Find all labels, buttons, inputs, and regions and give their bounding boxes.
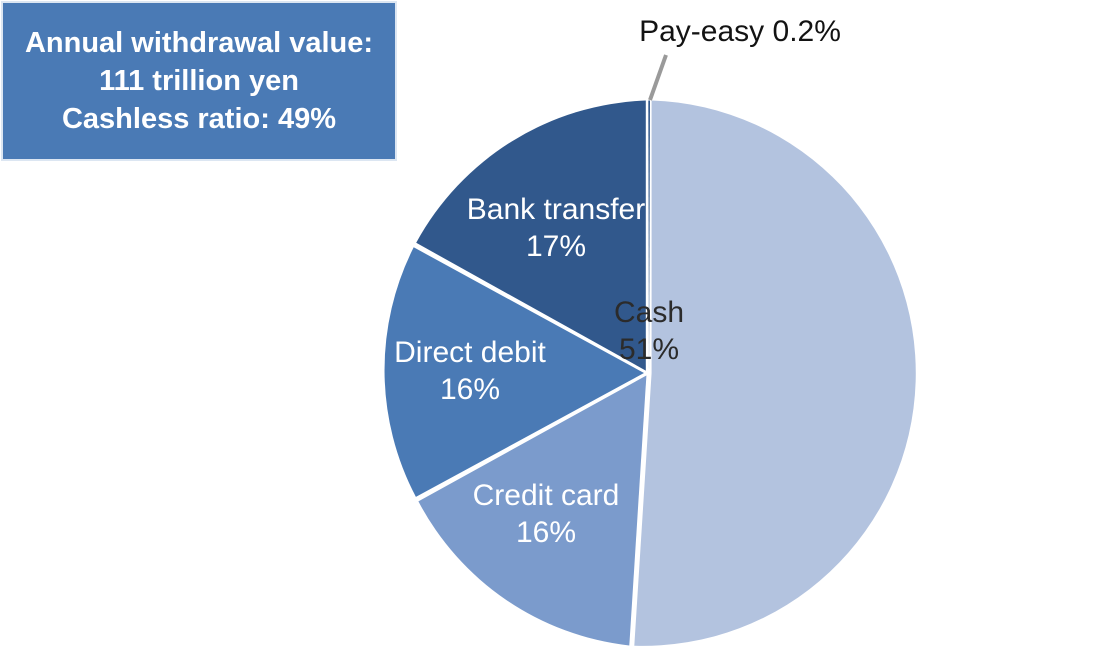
pie-chart-svg — [0, 0, 1120, 668]
chart-canvas: Annual withdrawal value: 111 trillion ye… — [0, 0, 1120, 668]
pay-easy-leader-line — [650, 55, 666, 100]
pie-chart: Cash 51% Credit card 16% Direct debit 16… — [0, 0, 1120, 668]
pie-slice-pay-easy[interactable] — [648, 101, 650, 374]
pie-slice-cash[interactable] — [634, 101, 915, 646]
